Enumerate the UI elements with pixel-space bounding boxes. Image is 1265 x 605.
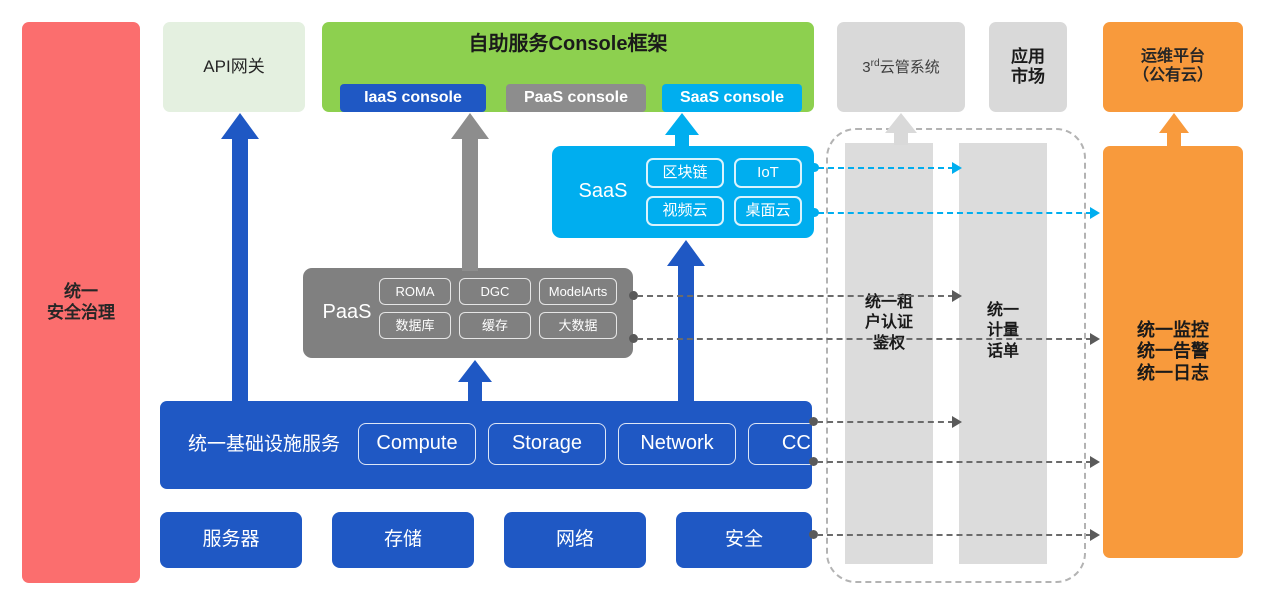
unified-infrastructure-service-block: 统一基础设施服务 Compute Storage Network CCE [160, 401, 812, 489]
saas-item-iot[interactable]: IoT [734, 158, 802, 188]
arrowhead-saas-to-ops-platform [1090, 207, 1100, 219]
saas-item-video-cloud[interactable]: 视频云 [646, 196, 724, 226]
paas-item-modelarts[interactable]: ModelArts [539, 278, 617, 305]
arrow-paas-to-console [449, 113, 491, 271]
link-saas-to-tenant-auth [818, 167, 954, 169]
ops-right-line3: 统一日志 [1137, 363, 1209, 384]
link-paas-to-ops-platform [637, 338, 1092, 340]
app-market-block: 应用 市场 [989, 22, 1067, 112]
iaas-console-button[interactable]: IaaS console [340, 84, 486, 112]
ops-top-line1: 运维平台 [1133, 48, 1213, 67]
security-label-line2: 安全治理 [47, 303, 115, 323]
app-market-line1: 应用 [1011, 47, 1045, 67]
api-gateway-label: API网关 [203, 57, 264, 77]
arrow-shared-to-third-party-cloud [883, 113, 919, 145]
console-frame-title: 自助服务Console框架 [322, 30, 814, 60]
arrow-iaas-to-saas [665, 240, 707, 402]
self-service-console-frame: 自助服务Console框架 IaaS console PaaS console … [322, 22, 814, 112]
paas-console-button[interactable]: PaaS console [506, 84, 646, 112]
saas-console-button[interactable]: SaaS console [662, 84, 802, 112]
arrow-ops-right-to-ops-top [1157, 113, 1191, 147]
paas-item-dgc[interactable]: DGC [459, 278, 531, 305]
link-iaas-to-tenant-auth [817, 421, 954, 423]
paas-item-bigdata[interactable]: 大数据 [539, 312, 617, 339]
api-gateway-block: API网关 [163, 22, 305, 112]
arrowhead-saas-to-tenant-auth [952, 162, 962, 174]
ops-platform-public-cloud-block: 运维平台 （公有云） [1103, 22, 1243, 112]
metering-line3: 话单 [959, 342, 1047, 362]
iaas-item-network[interactable]: Network [618, 423, 736, 465]
metering-line1: 统一 [959, 301, 1047, 321]
infrastructure-item-network[interactable]: 网络 [504, 512, 646, 568]
third-party-prefix: 3 [862, 59, 870, 76]
third-party-cloud-management-block: 3rd云管系统 [837, 22, 965, 112]
arrow-saas-to-console [663, 113, 701, 149]
tenant-auth-line2: 户认证 [845, 313, 933, 333]
saas-item-blockchain[interactable]: 区块链 [646, 158, 724, 188]
link-iaas-to-ops-platform [817, 461, 1092, 463]
iaas-label: 统一基础设施服务 [174, 430, 354, 460]
unified-metering-billing-column: 统一 计量 话单 [959, 143, 1047, 564]
third-party-suffix: 云管系统 [880, 59, 940, 76]
security-label-line1: 统一 [47, 282, 115, 302]
infrastructure-item-server[interactable]: 服务器 [160, 512, 302, 568]
paas-layer-block: PaaS ROMA DGC ModelArts 数据库 缓存 大数据 [303, 268, 633, 358]
ops-right-line2: 统一告警 [1137, 341, 1209, 362]
app-market-line2: 市场 [1011, 67, 1045, 87]
ops-top-line2: （公有云） [1133, 67, 1213, 86]
ops-right-line1: 统一监控 [1137, 320, 1209, 341]
infrastructure-item-storage[interactable]: 存储 [332, 512, 474, 568]
link-saas-to-ops-platform [818, 212, 1092, 214]
arrow-iaas-to-api-gateway [219, 113, 261, 403]
architecture-diagram: 统一 安全治理 API网关 自助服务Console框架 IaaS console… [0, 0, 1265, 605]
arrowhead-infrastructure-to-ops-platform [1090, 529, 1100, 541]
iaas-item-storage[interactable]: Storage [488, 423, 606, 465]
paas-item-cache[interactable]: 缓存 [459, 312, 531, 339]
arrowhead-iaas-to-ops-platform [1090, 456, 1100, 468]
third-party-superscript: rd [871, 58, 880, 69]
link-infrastructure-to-ops-platform [817, 534, 1092, 536]
saas-layer-block: SaaS 区块链 IoT 视频云 桌面云 [552, 146, 814, 238]
paas-item-roma[interactable]: ROMA [379, 278, 451, 305]
arrowhead-paas-to-ops-platform [1090, 333, 1100, 345]
saas-label: SaaS [566, 177, 640, 207]
arrowhead-iaas-to-tenant-auth [952, 416, 962, 428]
arrowhead-paas-to-tenant-auth [952, 290, 962, 302]
unified-security-governance-block: 统一 安全治理 [22, 22, 140, 583]
iaas-item-compute[interactable]: Compute [358, 423, 476, 465]
saas-item-desktop-cloud[interactable]: 桌面云 [734, 196, 802, 226]
link-paas-to-tenant-auth [637, 295, 954, 297]
arrow-iaas-to-paas [456, 360, 494, 402]
paas-label: PaaS [313, 298, 381, 328]
tenant-auth-line3: 鉴权 [845, 334, 933, 354]
unified-monitoring-alarm-log-block: 统一监控 统一告警 统一日志 [1103, 146, 1243, 558]
infrastructure-item-security[interactable]: 安全 [676, 512, 812, 568]
paas-item-database[interactable]: 数据库 [379, 312, 451, 339]
unified-tenant-auth-column: 统一租 户认证 鉴权 [845, 143, 933, 564]
